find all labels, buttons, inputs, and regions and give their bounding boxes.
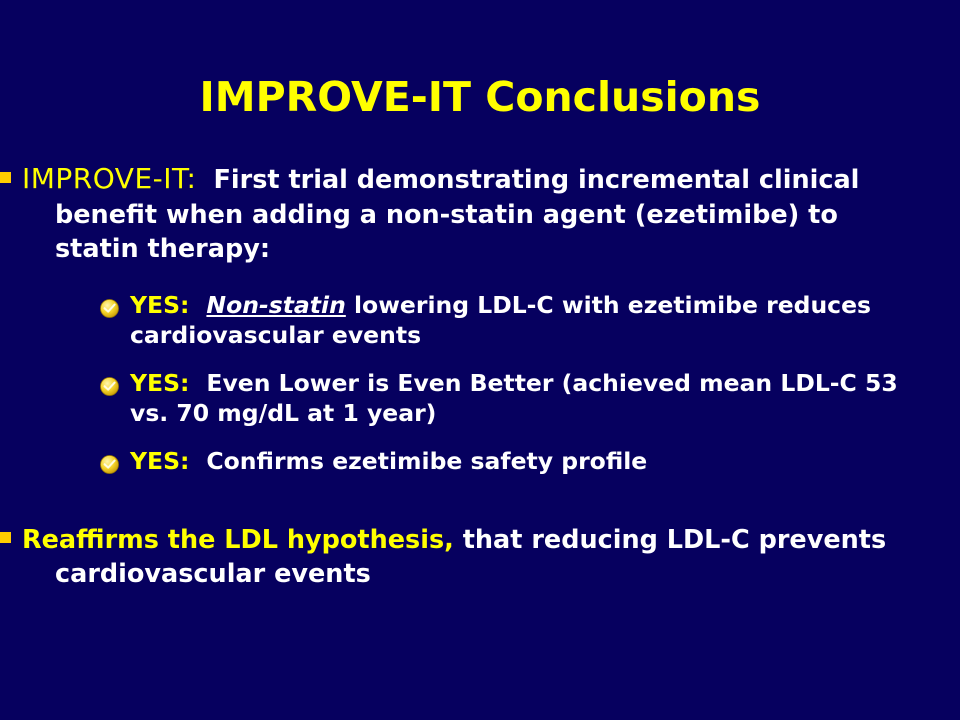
check-circle-icon	[100, 451, 119, 470]
sub-bullet-2-label: YES:	[130, 369, 189, 397]
check-circle-icon	[100, 373, 119, 392]
slide-canvas: IMPROVE-IT Conclusions IMPROVE-IT:First …	[0, 0, 960, 720]
main-bullet-1-paragraph: IMPROVE-IT:First trial demonstrating inc…	[0, 160, 930, 266]
main-bullet-2-paragraph: Reaffirms the LDL hypothesis, that reduc…	[0, 523, 930, 591]
main-bullet-1: IMPROVE-IT:First trial demonstrating inc…	[0, 160, 960, 266]
sub-bullet-2: YES:Even Lower is Even Better (achieved …	[100, 368, 920, 429]
sub-bullet-1-emphasis: Non-statin	[206, 291, 345, 319]
square-bullet-icon	[0, 532, 11, 543]
check-circle-icon	[100, 295, 119, 314]
sub-bullet-3-label: YES:	[130, 447, 189, 475]
main-bullet-1-highlight: IMPROVE-IT:	[22, 162, 196, 195]
sub-bullet-1-label: YES:	[130, 291, 189, 319]
main-bullet-2-highlight: Reaffirms the LDL hypothesis,	[22, 525, 454, 555]
sub-bullet-1: YES:Non-statin lowering LDL-C with ezeti…	[100, 290, 920, 351]
sub-bullet-3: YES:Confirms ezetimibe safety profile	[100, 446, 920, 477]
sub-bullet-list: YES:Non-statin lowering LDL-C with ezeti…	[0, 290, 960, 477]
main-bullet-2: Reaffirms the LDL hypothesis, that reduc…	[0, 523, 960, 591]
square-bullet-icon	[0, 172, 11, 183]
slide-body: IMPROVE-IT:First trial demonstrating inc…	[0, 160, 960, 591]
sub-bullet-2-text: Even Lower is Even Better (achieved mean…	[130, 369, 898, 428]
sub-bullet-3-text: Confirms ezetimibe safety profile	[206, 447, 647, 475]
slide-title: IMPROVE-IT Conclusions	[0, 76, 960, 119]
